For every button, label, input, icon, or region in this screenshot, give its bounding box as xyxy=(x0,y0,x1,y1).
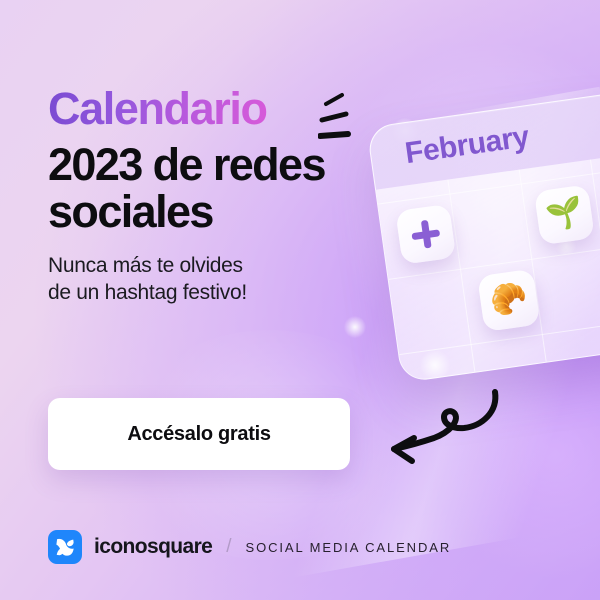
subheading-line-1: Nunca más te olvides xyxy=(48,254,243,277)
copy-block: Calendario 2023 de redes sociales Nunca … xyxy=(48,86,408,307)
cta-button[interactable]: Accésalo gratis xyxy=(48,398,350,470)
footer-tagline: SOCIAL MEDIA CALENDAR xyxy=(246,540,452,555)
subheading: Nunca más te olvides de un hashtag festi… xyxy=(48,253,408,306)
seedling-tile[interactable]: 🌱 xyxy=(534,184,595,245)
brand-name: iconosquare xyxy=(94,535,212,559)
kicker-heading: Calendario xyxy=(48,86,267,132)
croissant-icon: 🥐 xyxy=(488,283,529,318)
footer: iconosquare / SOCIAL MEDIA CALENDAR xyxy=(48,530,451,564)
seedling-icon: 🌱 xyxy=(544,197,585,232)
plus-icon xyxy=(410,218,442,250)
subheading-line-2: de un hashtag festivo! xyxy=(48,281,247,304)
curly-arrow-icon xyxy=(382,382,512,472)
calendar-month-label: February xyxy=(403,120,531,171)
main-headline: 2023 de redes sociales xyxy=(48,142,398,236)
croissant-tile[interactable]: 🥐 xyxy=(477,269,540,332)
promo-banner: February 🌱 🥐 xyxy=(0,0,600,600)
sparkle-dot xyxy=(344,316,366,338)
iconosquare-logo-icon[interactable] xyxy=(48,530,82,564)
footer-separator: / xyxy=(226,536,231,558)
calendar-grid: 🌱 🥐 xyxy=(376,154,600,382)
grid-line xyxy=(590,160,600,352)
